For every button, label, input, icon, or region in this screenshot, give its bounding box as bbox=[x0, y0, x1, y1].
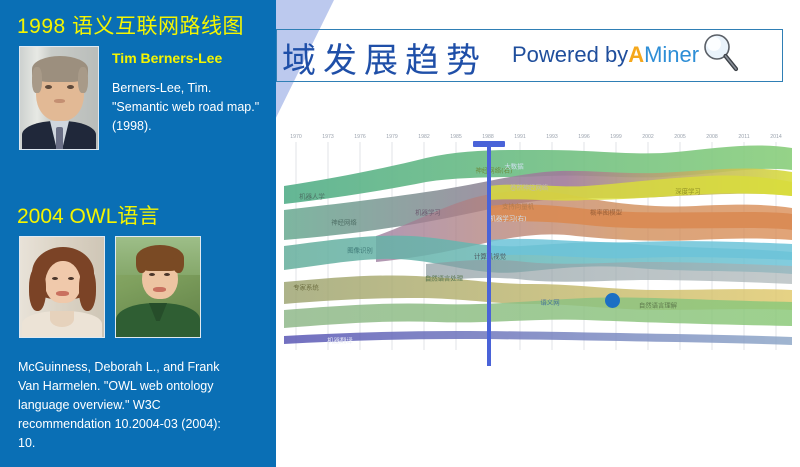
year-marker-handle[interactable] bbox=[473, 141, 505, 147]
x-tick: 1999 bbox=[610, 134, 622, 140]
x-tick: 2002 bbox=[642, 134, 654, 140]
x-tick: 1996 bbox=[578, 134, 590, 140]
section-title-1998: 1998 语义互联网路线图 bbox=[17, 10, 244, 40]
slide-canvas: 1970 1973 1976 1979 1982 1985 1988 1991 … bbox=[0, 0, 800, 467]
x-tick: 2011 bbox=[738, 134, 749, 140]
stream-label: 自然语言处理 bbox=[425, 274, 463, 283]
stream-label: 卷积神经网络 bbox=[510, 183, 548, 192]
stream-label: 机器翻译 bbox=[327, 336, 353, 345]
x-tick: 1985 bbox=[450, 134, 462, 140]
x-tick: 1982 bbox=[418, 134, 430, 140]
stream-label: 概率图模型 bbox=[590, 208, 622, 217]
stream-label: 机器学习(右) bbox=[490, 214, 527, 223]
x-tick: 1970 bbox=[290, 134, 302, 140]
stream-label: 自然语言理解 bbox=[639, 301, 677, 310]
citation-text-2004: McGuinness, Deborah L., and Frank Van Ha… bbox=[18, 358, 236, 453]
stream-label: 深度学习 bbox=[675, 187, 701, 196]
magnifying-glass-icon bbox=[700, 32, 740, 74]
person-name-label: Tim Berners-Lee bbox=[112, 50, 222, 66]
page-title: 域发展趋势 bbox=[282, 33, 487, 82]
x-tick: 1991 bbox=[514, 134, 526, 140]
citation-text-1998: Berners-Lee, Tim. "Semantic web road map… bbox=[112, 79, 262, 136]
avatar bbox=[19, 236, 105, 338]
x-tick: 1993 bbox=[546, 134, 558, 140]
stream-label: 专家系统 bbox=[293, 283, 319, 292]
x-tick: 2014 bbox=[770, 134, 782, 140]
x-tick: 1976 bbox=[354, 134, 366, 140]
x-tick: 1988 bbox=[482, 134, 494, 140]
year-marker-line[interactable] bbox=[487, 144, 491, 366]
stream-label: 大数据 bbox=[504, 162, 523, 171]
x-tick: 2005 bbox=[674, 134, 686, 140]
left-info-panel: 1998 语义互联网路线图 Tim Berners-Lee Berners-Le… bbox=[0, 0, 276, 467]
stream-label: 机器人学 bbox=[299, 192, 325, 201]
highlight-point-dot[interactable] bbox=[605, 293, 620, 308]
x-tick: 1973 bbox=[322, 134, 334, 140]
aminer-brand-rest: Miner bbox=[644, 42, 699, 67]
x-tick: 1979 bbox=[386, 134, 398, 140]
avatar bbox=[115, 236, 201, 338]
aminer-brand-a: A bbox=[628, 42, 644, 67]
avatar bbox=[19, 46, 99, 150]
section-title-2004: 2004 OWL语言 bbox=[17, 200, 159, 230]
stream-label: 图像识别 bbox=[347, 246, 373, 255]
stream-label: 语义网 bbox=[540, 298, 559, 307]
powered-by-label: Powered by bbox=[512, 42, 628, 67]
x-tick: 2008 bbox=[706, 134, 718, 140]
stream-label: 机器学习 bbox=[415, 208, 441, 217]
stream-label: 支持向量机 bbox=[502, 202, 534, 211]
stream-label: 神经网络 bbox=[331, 218, 357, 227]
powered-by-aminer[interactable]: Powered byAMiner bbox=[512, 42, 699, 68]
